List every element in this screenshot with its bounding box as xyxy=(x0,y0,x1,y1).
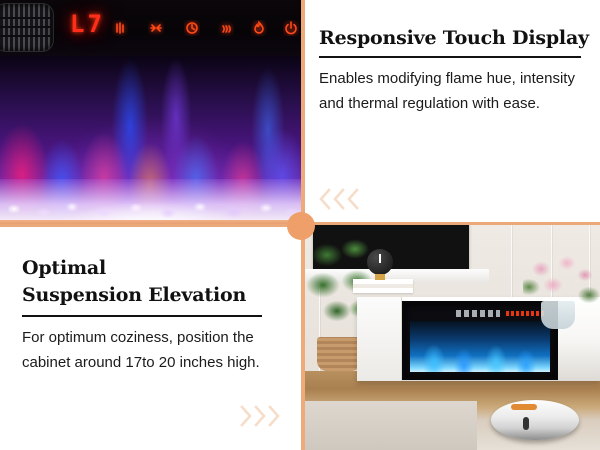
page-title-line1: Optimal xyxy=(22,257,106,279)
timer-icon[interactable] xyxy=(184,20,200,36)
clock-base xyxy=(375,274,385,280)
blue-flame-graphic xyxy=(410,321,550,372)
touch-control-bar: L7 xyxy=(0,0,301,56)
led-readout: L7 xyxy=(70,12,105,36)
robot-vacuum-button xyxy=(523,417,529,430)
card-body-text: For optimum coziness, position the cabin… xyxy=(22,325,272,375)
flame-bed-graphic xyxy=(0,56,301,225)
fireplace-control-panel-photo: L7 xyxy=(0,0,301,225)
flame-speed-icon[interactable] xyxy=(148,20,164,36)
vertical-divider-bottom xyxy=(301,225,305,450)
page-title: OptimalSuspension Elevation xyxy=(22,255,246,309)
center-junction-dot xyxy=(287,212,315,240)
heat-level-icon[interactable] xyxy=(218,20,234,36)
recessed-fireplace xyxy=(402,301,558,380)
infographic-root: L7 Responsive Touch Display xyxy=(0,0,600,450)
page-title: Responsive Touch Display xyxy=(319,27,589,49)
table-clock xyxy=(367,249,393,275)
chevron-right-triple-icon xyxy=(240,405,280,427)
stacked-books xyxy=(353,279,413,293)
title-underline xyxy=(22,315,262,317)
horizontal-divider-left xyxy=(0,224,301,227)
wicker-planter xyxy=(317,337,361,371)
flame-color-icon[interactable] xyxy=(251,20,267,36)
page-title-line2: Suspension Elevation xyxy=(22,284,246,306)
power-icon[interactable] xyxy=(283,20,299,36)
robot-vacuum xyxy=(491,400,579,440)
vertical-divider-top xyxy=(301,0,305,225)
flame-intensity-icon[interactable] xyxy=(112,20,128,36)
horizontal-divider-right xyxy=(305,222,600,225)
heater-vent-grille xyxy=(0,3,54,52)
living-room-installation-photo xyxy=(301,225,600,450)
title-underline xyxy=(319,56,581,58)
area-rug xyxy=(301,401,477,450)
card-body-text: Enables modifying flame hue, intensity a… xyxy=(319,66,591,116)
crystal-ember-bed xyxy=(0,179,301,225)
cabinet-door xyxy=(357,297,402,381)
chevron-left-triple-icon xyxy=(319,188,359,210)
responsive-touch-display-card: Responsive Touch Display Enables modifyi… xyxy=(301,0,600,225)
glass-vase xyxy=(541,301,575,329)
